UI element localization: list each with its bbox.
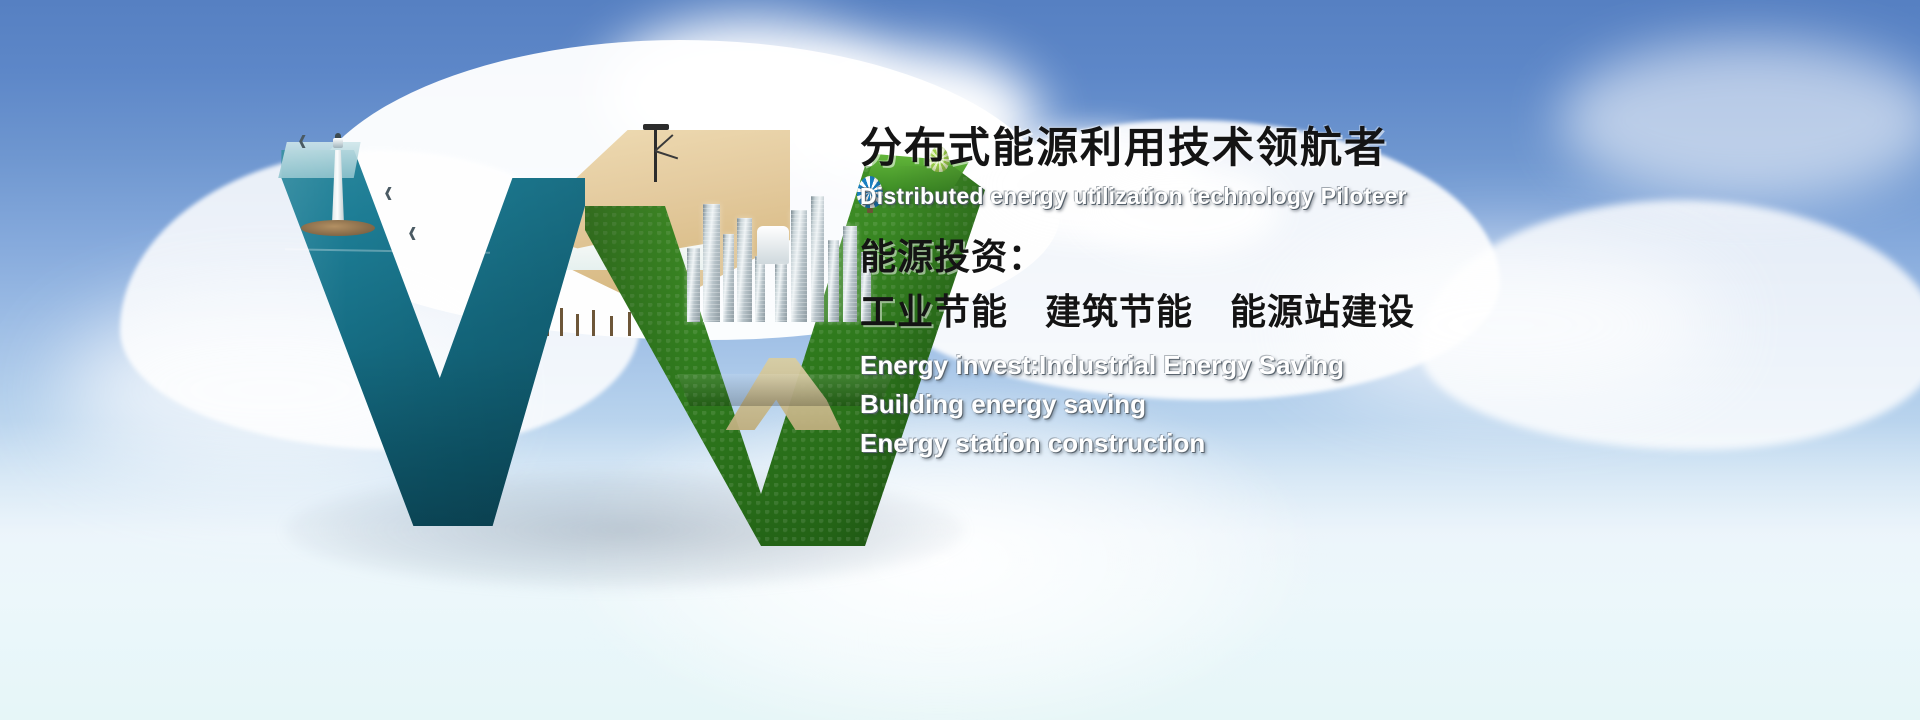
headline-chinese: 分布式能源利用技术领航者 — [860, 124, 1760, 171]
ocean-v-block: ❰ ❰ ❰ — [255, 138, 585, 538]
seagull-icon: ❰ — [297, 134, 308, 147]
service-line-1: Energy invest:Industrial Energy Saving — [860, 347, 1760, 384]
seagull-icon: ❰ — [383, 186, 394, 199]
ocean-depth-shade — [255, 138, 585, 538]
banner-copy: 分布式能源利用技术领航者 Distributed energy utilizat… — [860, 124, 1760, 462]
city-skyline-icon — [683, 172, 883, 322]
headline-english: Distributed energy utilization technolog… — [860, 183, 1760, 210]
lighthouse-icon — [325, 140, 351, 232]
hero-banner: ❰ ❰ ❰ — [0, 0, 1920, 720]
services-chinese: 工业节能 建筑节能 能源站建设 — [860, 291, 1760, 332]
dome-building — [757, 226, 789, 264]
section-label: 能源投资： — [860, 236, 1760, 277]
seagull-icon: ❰ — [407, 226, 418, 239]
service-line-2: Building energy saving — [860, 386, 1760, 423]
rocky-islet — [301, 220, 375, 236]
service-line-3: Energy station construction — [860, 425, 1760, 462]
